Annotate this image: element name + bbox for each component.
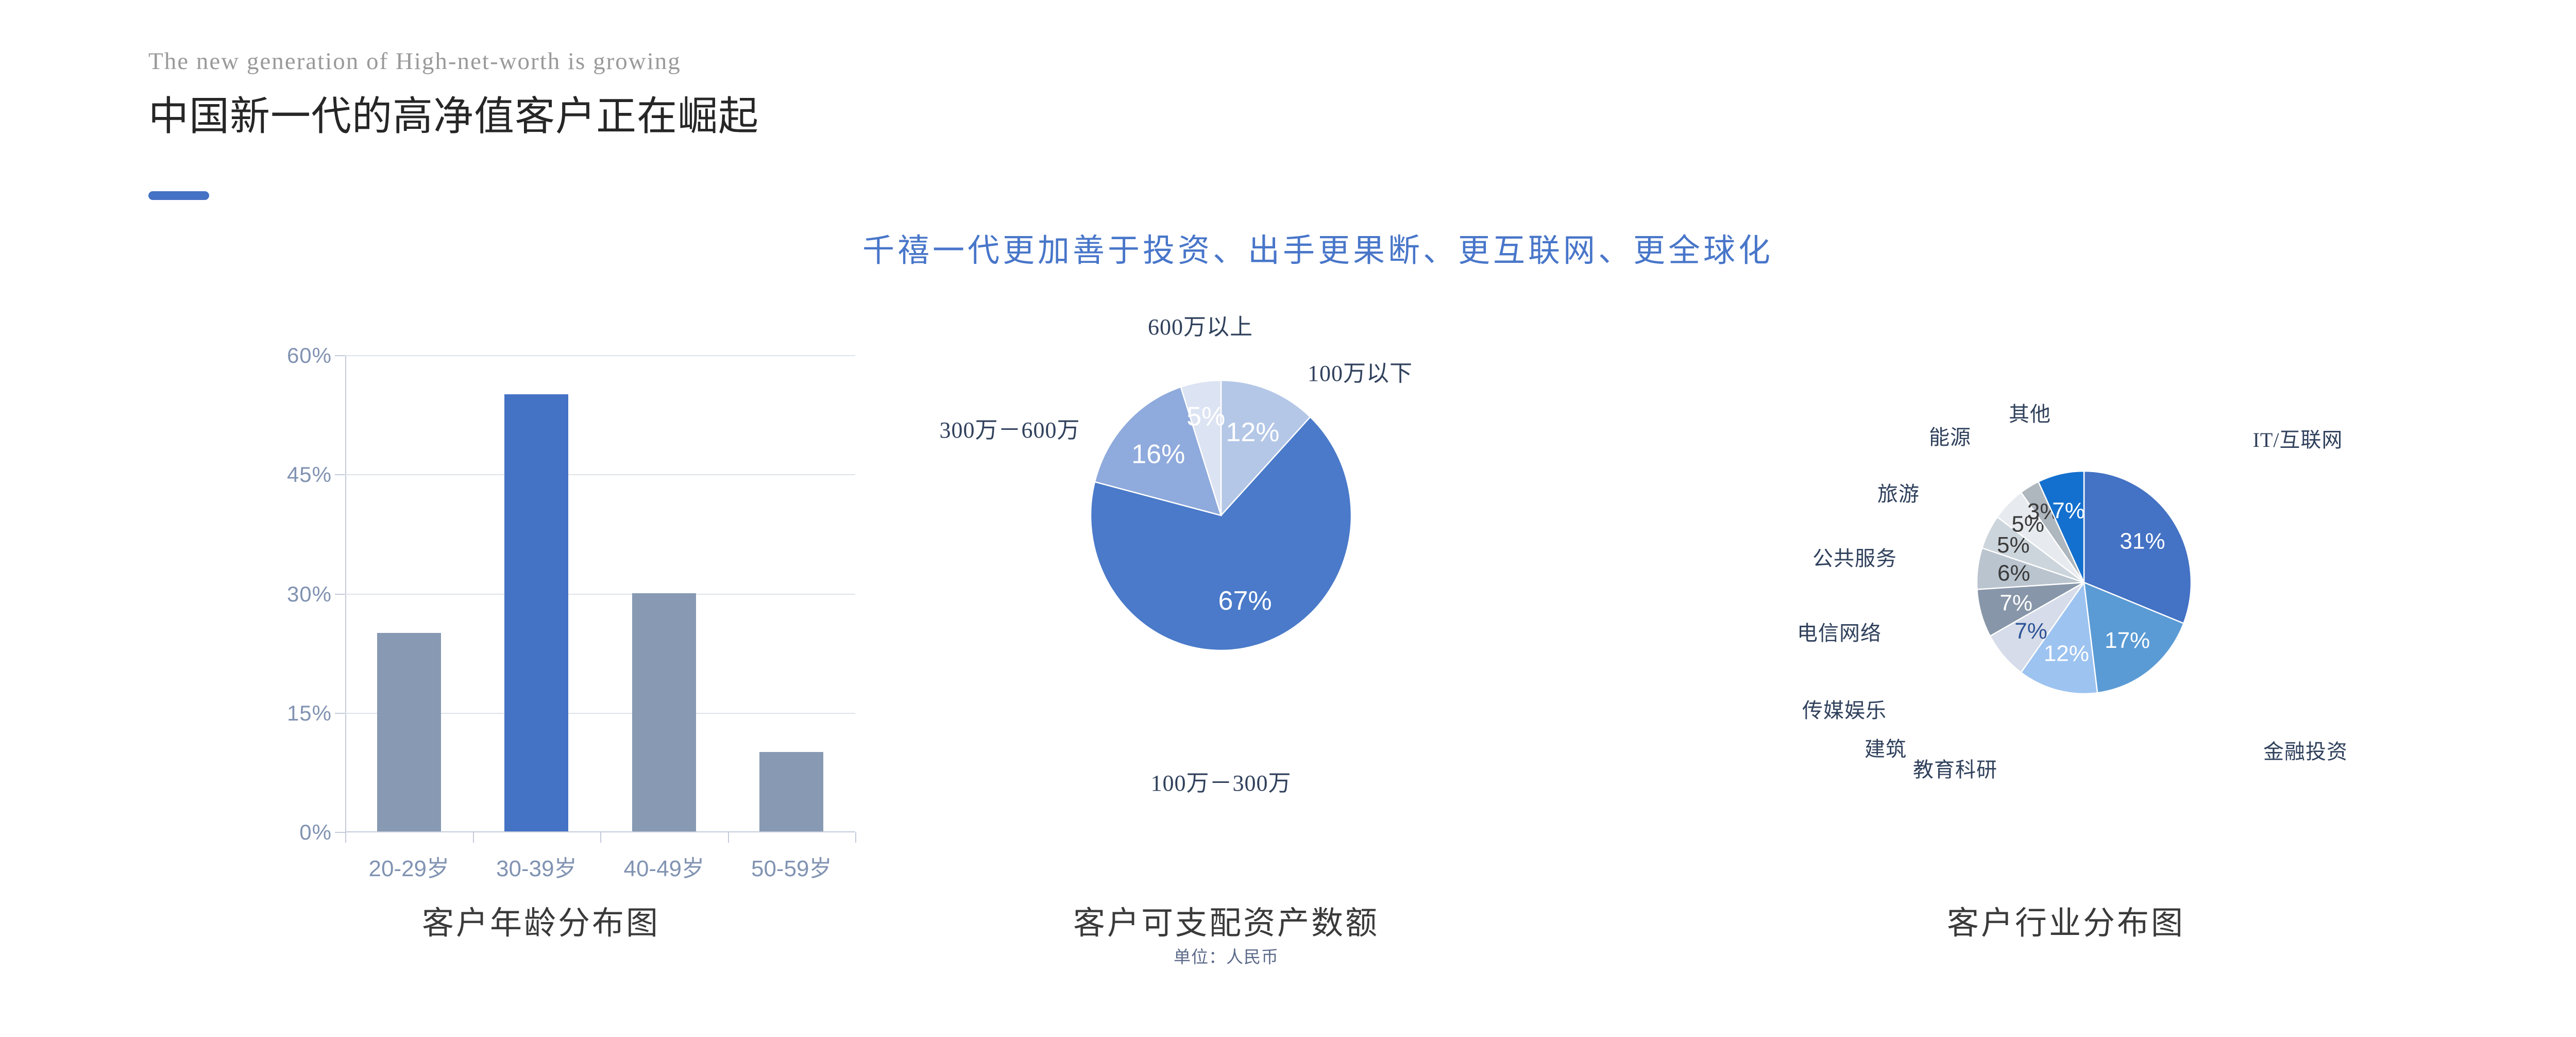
- chart-age-distribution: 0%15%30%45%60% 20-29岁30-39岁40-49岁50-59岁 …: [175, 309, 907, 995]
- page-header: The new generation of High-net-worth is …: [148, 49, 1488, 138]
- pie-category-label-能源: 能源: [1929, 421, 1971, 450]
- pie-category-label-100万以下: 100万以下: [1308, 355, 1413, 388]
- gridline: [345, 355, 855, 356]
- chart-assets-distribution: 12%67%16%5% 100万以下100万－300万300万－600万600万…: [907, 309, 1546, 995]
- accent-underline-bar: [148, 191, 209, 200]
- y-tick-stub: [335, 355, 345, 356]
- pie-category-label-传媒娱乐: 传媒娱乐: [1802, 694, 1887, 724]
- bar-50-59岁[interactable]: [759, 752, 823, 831]
- x-tick-label: 20-29岁: [368, 850, 449, 883]
- pie-industry-svg: 31%17%12%7%7%6%5%5%3%7%: [1618, 309, 2514, 856]
- chart-title-industry: 客户行业分布图: [1618, 897, 2514, 943]
- x-tick-stub: [345, 832, 346, 843]
- eyebrow-text: The new generation of High-net-worth is …: [148, 49, 1488, 74]
- pie-value-label-传媒娱乐: 7%: [1999, 590, 2032, 615]
- pie-category-label-金融投资: 金融投资: [2263, 735, 2348, 765]
- bar-plot-area: 0%15%30%45%60% 20-29岁30-39岁40-49岁50-59岁: [345, 356, 855, 832]
- pie-value-label-100万以下: 12%: [1226, 417, 1279, 447]
- page-title: 中国新一代的高净值客户正在崛起: [148, 95, 1488, 138]
- bar-30-39岁[interactable]: [504, 394, 568, 831]
- y-tick-stub: [335, 594, 345, 595]
- pie-category-label-教育科研: 教育科研: [1913, 753, 1997, 783]
- y-tick-stub: [335, 713, 345, 714]
- pie-value-label-教育科研: 12%: [2044, 641, 2089, 666]
- bar-40-49岁[interactable]: [632, 593, 696, 832]
- pie-category-label-电信网络: 电信网络: [1797, 616, 1882, 646]
- y-tick-label: 0%: [299, 820, 332, 845]
- pie-category-label-其他: 其他: [2009, 397, 2051, 427]
- pie-value-label-300万－600万: 16%: [1131, 440, 1185, 470]
- pie-value-label-建筑: 7%: [2014, 618, 2047, 644]
- chart-industry-distribution: 31%17%12%7%7%6%5%5%3%7% IT/互联网金融投资教育科研建筑…: [1618, 309, 2514, 995]
- y-tick-label: 30%: [287, 582, 332, 607]
- y-tick-stub: [335, 474, 345, 475]
- gridline: [345, 474, 855, 475]
- chart-unit-assets: 单位：人民币: [907, 943, 1546, 968]
- y-tick-label: 60%: [287, 343, 332, 368]
- pie-category-label-建筑: 建筑: [1865, 732, 1907, 762]
- pie-value-label-600万以上: 5%: [1187, 402, 1225, 432]
- x-tick-stub: [855, 832, 856, 843]
- x-tick-stub: [473, 832, 474, 843]
- y-tick-label: 15%: [287, 701, 332, 726]
- y-tick-stub: [335, 832, 345, 833]
- pie-value-label-100万－300万: 67%: [1218, 586, 1272, 616]
- pie-category-label-600万以上: 600万以上: [1148, 308, 1253, 341]
- pie-category-label-IT/互联网: IT/互联网: [2253, 423, 2343, 453]
- pie-value-label-金融投资: 17%: [2105, 628, 2150, 653]
- pie-category-label-公共服务: 公共服务: [1812, 542, 1897, 572]
- x-tick-label: 40-49岁: [623, 850, 704, 883]
- chart-title-age: 客户年龄分布图: [175, 897, 907, 943]
- x-tick-label: 30-39岁: [496, 850, 577, 883]
- x-tick-label: 50-59岁: [751, 850, 832, 883]
- x-tick-stub: [728, 832, 729, 843]
- gridline: [345, 594, 855, 595]
- bar-20-29岁[interactable]: [377, 633, 441, 831]
- y-tick-label: 45%: [287, 462, 332, 487]
- pie-value-label-电信网络: 6%: [1997, 561, 2030, 586]
- pie-category-label-旅游: 旅游: [1877, 477, 1920, 507]
- pie-category-label-300万－600万: 300万－600万: [940, 411, 1080, 444]
- chart-title-assets: 客户可支配资产数额: [907, 897, 1546, 943]
- pie-value-label-其他: 7%: [2052, 498, 2085, 523]
- x-tick-stub: [600, 832, 601, 843]
- section-subtitle: 千禧一代更加善于投资、出手更果断、更互联网、更全球化: [0, 235, 2576, 267]
- pie-value-label-IT/互联网: 31%: [2120, 528, 2165, 554]
- pie-category-label-100万－300万: 100万－300万: [1151, 764, 1292, 797]
